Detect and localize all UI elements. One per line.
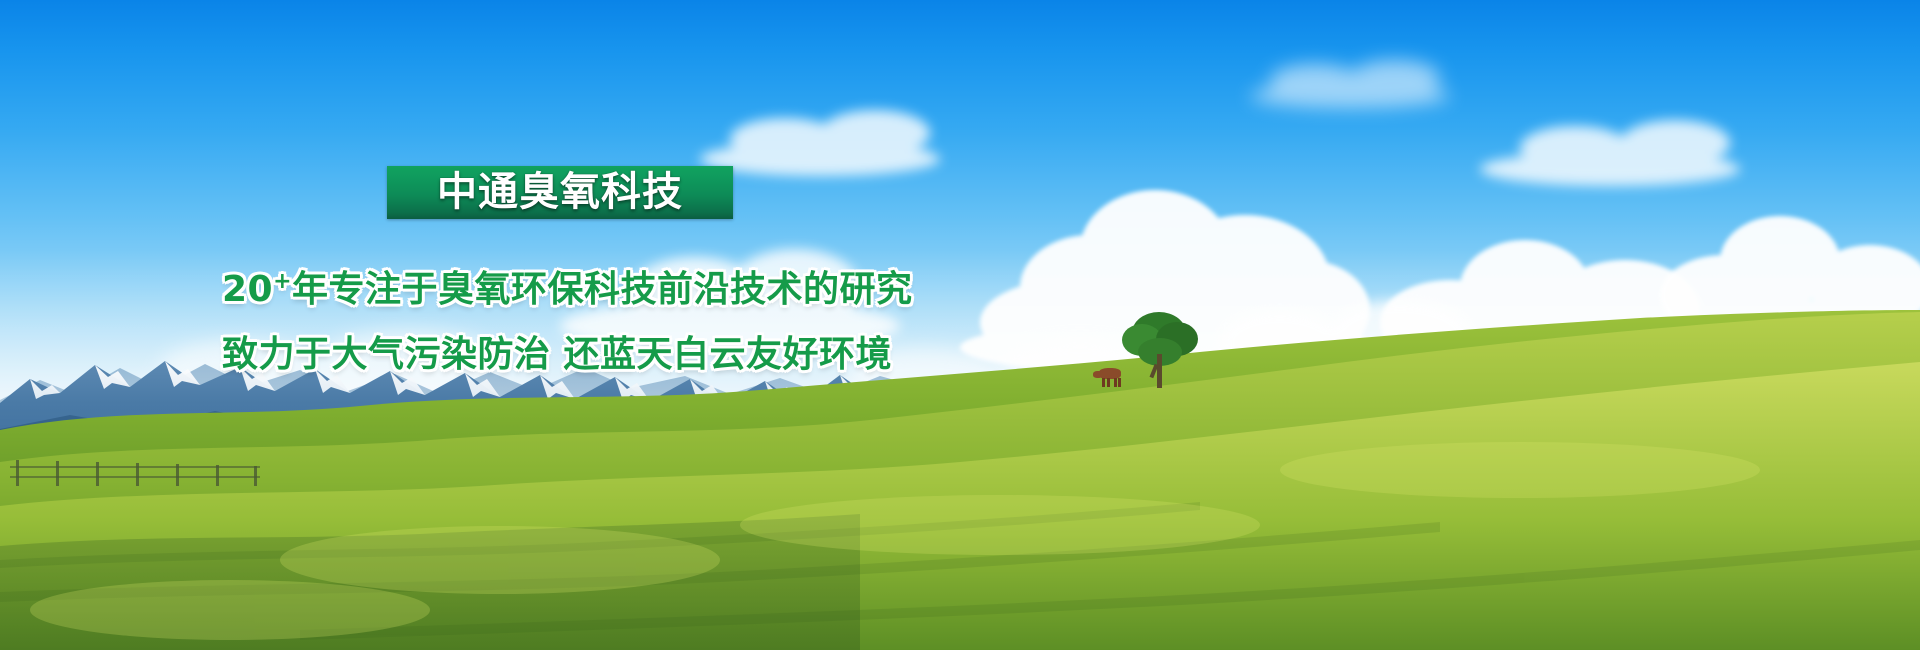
banner-text-overlay: 中通臭氧科技 20+年专注于臭氧环保科技前沿技术的研究 致力于大气污染防治 还蓝… — [0, 0, 1920, 650]
hero-banner: 中通臭氧科技 20+年专注于臭氧环保科技前沿技术的研究 致力于大气污染防治 还蓝… — [0, 0, 1920, 650]
subtitle-line-2: 致力于大气污染防治 还蓝天白云友好环境 — [222, 325, 892, 377]
subtitle-years-number: 20 — [222, 269, 273, 310]
subtitle-line-1: 20+年专注于臭氧环保科技前沿技术的研究 — [222, 260, 913, 312]
subtitle-years-plus: + — [273, 269, 292, 294]
brand-title: 中通臭氧科技 — [437, 172, 683, 212]
brand-title-box: 中通臭氧科技 — [387, 166, 733, 219]
subtitle-line-1-rest: 年专注于臭氧环保科技前沿技术的研究 — [292, 269, 913, 310]
